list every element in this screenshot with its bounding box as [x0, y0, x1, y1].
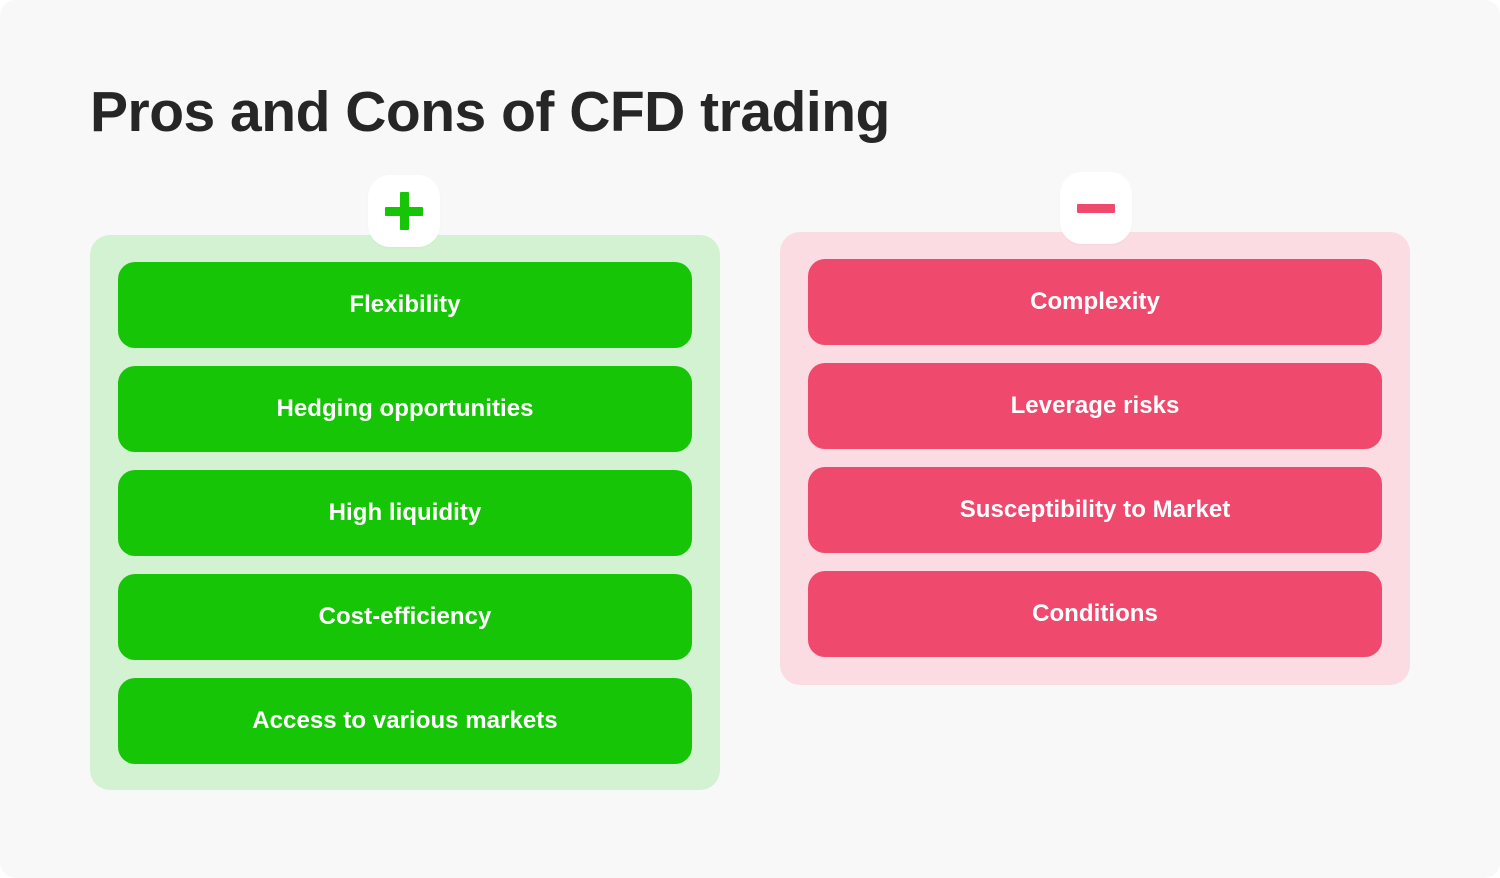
pros-badge	[368, 175, 440, 247]
pros-panel: Flexibility Hedging opportunities High l…	[90, 235, 720, 790]
pros-item-label: Hedging opportunities	[276, 395, 533, 423]
pros-list-item: Cost-efficiency	[118, 574, 692, 660]
cons-list-item: Complexity	[808, 259, 1382, 345]
cons-list-item: Conditions	[808, 571, 1382, 657]
pros-item-label: Access to various markets	[252, 707, 557, 735]
cons-panel: Complexity Leverage risks Susceptibility…	[780, 232, 1410, 685]
cons-item-label: Leverage risks	[1011, 392, 1180, 420]
pros-item-label: Cost-efficiency	[319, 603, 492, 631]
pros-list-item: Hedging opportunities	[118, 366, 692, 452]
pros-list-item: Flexibility	[118, 262, 692, 348]
minus-icon	[1077, 189, 1115, 227]
cons-list-item: Leverage risks	[808, 363, 1382, 449]
plus-icon-vertical-bar	[400, 192, 409, 230]
pros-item-label: Flexibility	[349, 291, 460, 319]
cons-item-label: Conditions	[1032, 600, 1158, 628]
cons-badge	[1060, 172, 1132, 244]
infographic-canvas: Pros and Cons of CFD trading Flexibility…	[0, 0, 1500, 878]
pros-list-item: Access to various markets	[118, 678, 692, 764]
plus-icon	[385, 192, 423, 230]
minus-icon-horizontal-bar	[1077, 204, 1115, 213]
cons-list-item: Susceptibility to Market	[808, 467, 1382, 553]
pros-item-label: High liquidity	[329, 499, 482, 527]
pros-list-item: High liquidity	[118, 470, 692, 556]
cons-item-label: Complexity	[1030, 288, 1160, 316]
cons-item-label: Susceptibility to Market	[960, 496, 1231, 524]
page-title: Pros and Cons of CFD trading	[90, 77, 890, 147]
